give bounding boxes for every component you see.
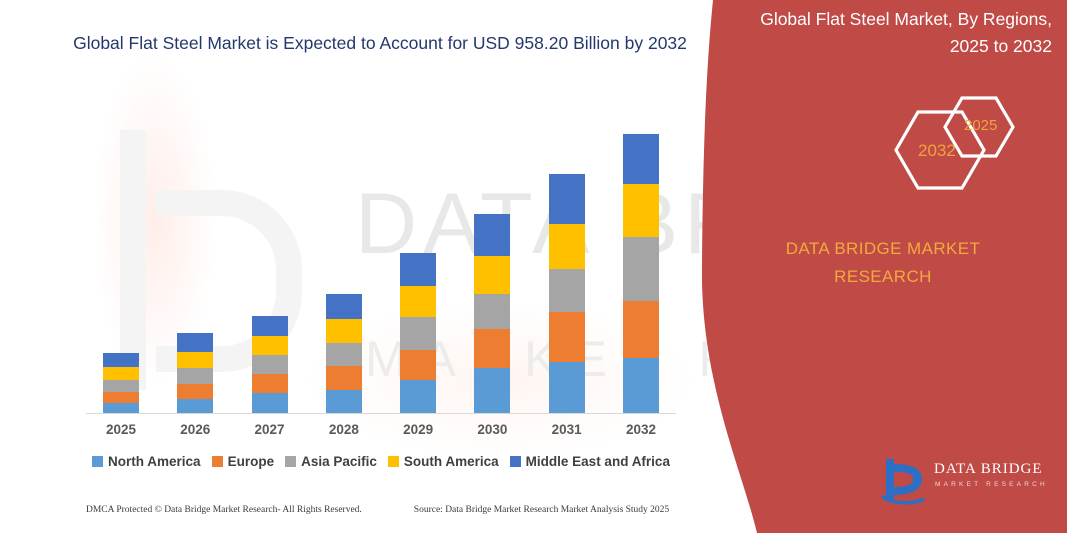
legend-label: South America	[404, 454, 499, 469]
legend-label: Middle East and Africa	[526, 454, 670, 469]
stacked-bar-group	[86, 110, 676, 413]
legend-swatch-icon	[388, 456, 399, 467]
stacked-bar-2026	[177, 333, 213, 413]
bar-segment	[252, 316, 288, 336]
x-axis-label: 2028	[309, 422, 379, 437]
bar-column	[309, 110, 379, 413]
bar-column	[160, 110, 230, 413]
bar-segment	[549, 174, 585, 223]
footer: DMCA Protected © Data Bridge Market Rese…	[86, 505, 686, 515]
bar-segment	[400, 317, 436, 349]
legend-item: North America	[92, 454, 201, 469]
stacked-bar-2027	[252, 316, 288, 413]
bar-segment	[623, 184, 659, 236]
legend-item: Europe	[212, 454, 275, 469]
bar-segment	[474, 329, 510, 367]
bar-segment	[549, 362, 585, 413]
x-axis-label: 2030	[457, 422, 527, 437]
x-axis-line	[86, 413, 676, 414]
bar-segment	[474, 294, 510, 329]
hexagon-group: 2032 2025	[700, 95, 1067, 215]
x-axis-label: 2029	[383, 422, 453, 437]
bar-segment	[400, 350, 436, 380]
legend-item: Asia Pacific	[285, 454, 377, 469]
panel-title: Global Flat Steel Market, By Regions, 20…	[742, 6, 1052, 60]
bar-segment	[252, 393, 288, 413]
hexagon-large-label: 2032	[918, 141, 956, 161]
chart-legend: North AmericaEuropeAsia PacificSouth Ame…	[86, 454, 676, 469]
bar-segment	[326, 390, 362, 413]
logo-text-main: DATA BRIDGE	[934, 461, 1043, 478]
x-axis-label: 2031	[532, 422, 602, 437]
bar-segment	[549, 269, 585, 312]
bar-segment	[177, 384, 213, 399]
bar-column	[235, 110, 305, 413]
x-axis-label: 2032	[606, 422, 676, 437]
bar-column	[86, 110, 156, 413]
stacked-bar-2025	[103, 353, 139, 413]
x-axis-labels: 20252026202720282029203020312032	[86, 422, 676, 437]
logo-text-sub: MARKET RESEARCH	[935, 481, 1048, 488]
bar-segment	[177, 333, 213, 351]
bar-segment	[252, 355, 288, 374]
bar-segment	[103, 367, 139, 380]
legend-swatch-icon	[92, 456, 103, 467]
legend-item: Middle East and Africa	[510, 454, 670, 469]
bar-segment	[252, 336, 288, 354]
chart-plot-area	[86, 110, 676, 414]
chart-panel: Global Flat Steel Market is Expected to …	[0, 0, 760, 533]
bar-segment	[177, 399, 213, 413]
stacked-bar-2029	[400, 253, 436, 413]
bar-segment	[103, 380, 139, 392]
brand-panel-content: Global Flat Steel Market, By Regions, 20…	[700, 0, 1067, 533]
bar-segment	[549, 224, 585, 269]
bar-segment	[400, 380, 436, 413]
hexagon-small-label: 2025	[964, 117, 997, 134]
stacked-bar-2028	[326, 294, 362, 413]
x-axis-label: 2025	[86, 422, 156, 437]
legend-swatch-icon	[285, 456, 296, 467]
bar-segment	[474, 214, 510, 256]
brand-name: DATA BRIDGE MARKET RESEARCH	[733, 235, 1033, 291]
bar-segment	[326, 319, 362, 342]
logo-bar-icon	[886, 459, 894, 501]
bar-segment	[623, 134, 659, 184]
bar-segment	[177, 352, 213, 368]
infographic-root: DATA BRIDGE MARKET RESEARCH Global Flat …	[0, 0, 1067, 533]
logo-arc-icon	[894, 464, 922, 495]
bar-segment	[177, 368, 213, 384]
bar-segment	[103, 403, 139, 413]
footer-copyright: DMCA Protected © Data Bridge Market Rese…	[86, 505, 362, 515]
bar-segment	[623, 301, 659, 357]
bar-segment	[623, 358, 659, 413]
brand-line-1: DATA BRIDGE MARKET	[733, 235, 1033, 263]
chart-title: Global Flat Steel Market is Expected to …	[60, 30, 700, 57]
bar-segment	[474, 368, 510, 413]
stacked-bar-2032	[623, 134, 659, 413]
bar-column	[457, 110, 527, 413]
bar-segment	[252, 374, 288, 393]
bar-segment	[103, 392, 139, 403]
legend-swatch-icon	[212, 456, 223, 467]
bar-segment	[326, 294, 362, 319]
bar-segment	[400, 286, 436, 317]
bar-segment	[103, 353, 139, 367]
footer-source: Source: Data Bridge Market Research Mark…	[414, 505, 669, 515]
legend-label: Europe	[228, 454, 275, 469]
bar-segment	[326, 366, 362, 390]
bar-segment	[549, 312, 585, 361]
bar-column	[606, 110, 676, 413]
bar-segment	[400, 253, 436, 286]
legend-swatch-icon	[510, 456, 521, 467]
stacked-bar-2031	[549, 174, 585, 413]
stacked-bar-2030	[474, 214, 510, 413]
legend-label: North America	[108, 454, 201, 469]
legend-label: Asia Pacific	[301, 454, 377, 469]
bar-segment	[474, 256, 510, 294]
bar-column	[532, 110, 602, 413]
company-logo: DATA BRIDGE MARKET RESEARCH	[878, 455, 1058, 507]
x-axis-label: 2026	[160, 422, 230, 437]
bar-segment	[326, 343, 362, 366]
bar-segment	[623, 237, 659, 301]
x-axis-label: 2027	[235, 422, 305, 437]
brand-line-2: RESEARCH	[733, 263, 1033, 291]
legend-item: South America	[388, 454, 499, 469]
bar-column	[383, 110, 453, 413]
